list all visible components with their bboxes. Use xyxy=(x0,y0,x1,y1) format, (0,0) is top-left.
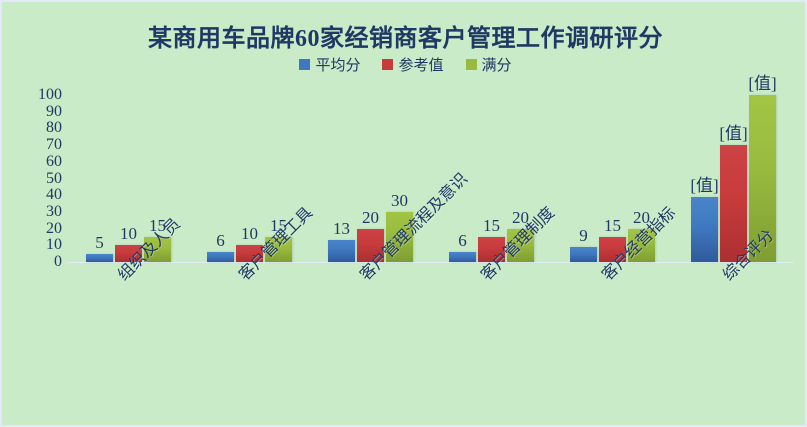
bar-0-1[interactable] xyxy=(207,252,234,262)
chart-container: 某商用车品牌60家经销商客户管理工作调研评分 平均分参考值满分 01020304… xyxy=(0,0,807,427)
bar-value-label: 6 xyxy=(216,232,225,249)
y-axis-tick-50: 50 xyxy=(46,171,62,187)
bar-value-label: 10 xyxy=(120,225,137,242)
bar-value-label: 10 xyxy=(241,225,258,242)
legend-swatch-icon xyxy=(382,59,393,70)
y-axis-tick-80: 80 xyxy=(46,120,62,136)
legend-item-0[interactable]: 平均分 xyxy=(299,54,360,75)
y-axis-tick-0: 0 xyxy=(54,254,62,270)
y-axis-tick-60: 60 xyxy=(46,154,62,170)
bar-value-label: 20 xyxy=(362,209,379,226)
legend-label: 平均分 xyxy=(315,54,360,75)
bar-value-label: 6 xyxy=(458,232,467,249)
bar-slot: 9 xyxy=(570,95,597,262)
axis-baseline xyxy=(68,262,794,263)
bar-value-label: 9 xyxy=(579,227,588,244)
bar-slot: [值] xyxy=(691,95,718,262)
bar-slot: 10 xyxy=(115,95,142,262)
legend-item-2[interactable]: 满分 xyxy=(466,54,512,75)
bar-0-3[interactable] xyxy=(449,252,476,262)
y-axis-tick-70: 70 xyxy=(46,137,62,153)
y-axis-tick-20: 20 xyxy=(46,221,62,237)
bar-value-label: 15 xyxy=(604,217,621,234)
y-axis-tick-40: 40 xyxy=(46,187,62,203)
bar-slot: 13 xyxy=(328,95,355,262)
legend-swatch-icon xyxy=(299,59,310,70)
y-axis: 0102030405060708090100 xyxy=(20,95,62,262)
legend-label: 满分 xyxy=(482,54,512,75)
bar-value-label: 30 xyxy=(391,192,408,209)
bar-value-label: 15 xyxy=(483,217,500,234)
y-axis-tick-100: 100 xyxy=(38,87,62,103)
bar-value-label: [值] xyxy=(690,177,718,194)
bar-slot: 10 xyxy=(236,95,263,262)
bar-0-0[interactable] xyxy=(86,254,113,262)
bar-value-label: [值] xyxy=(719,125,747,142)
bar-0-4[interactable] xyxy=(570,247,597,262)
bar-slot: 15 xyxy=(478,95,505,262)
bar-0-5[interactable] xyxy=(691,197,718,262)
y-axis-tick-90: 90 xyxy=(46,104,62,120)
bar-value-label: [值] xyxy=(748,75,776,92)
y-axis-tick-10: 10 xyxy=(46,237,62,253)
legend-item-1[interactable]: 参考值 xyxy=(382,54,443,75)
bar-slot: [值] xyxy=(720,95,747,262)
y-axis-tick-30: 30 xyxy=(46,204,62,220)
bar-slot: 20 xyxy=(357,95,384,262)
bar-slot: 5 xyxy=(86,95,113,262)
bar-value-label: 5 xyxy=(95,234,104,251)
plot-area: 51015610151320306152091520[值][值][值] xyxy=(68,95,794,262)
bar-0-2[interactable] xyxy=(328,240,355,262)
bar-slot: 6 xyxy=(207,95,234,262)
bar-slot: 15 xyxy=(599,95,626,262)
chart-legend: 平均分参考值满分 xyxy=(2,54,807,75)
legend-label: 参考值 xyxy=(398,54,443,75)
bar-value-label: 13 xyxy=(333,220,350,237)
chart-title: 某商用车品牌60家经销商客户管理工作调研评分 xyxy=(2,18,807,53)
legend-swatch-icon xyxy=(466,59,477,70)
